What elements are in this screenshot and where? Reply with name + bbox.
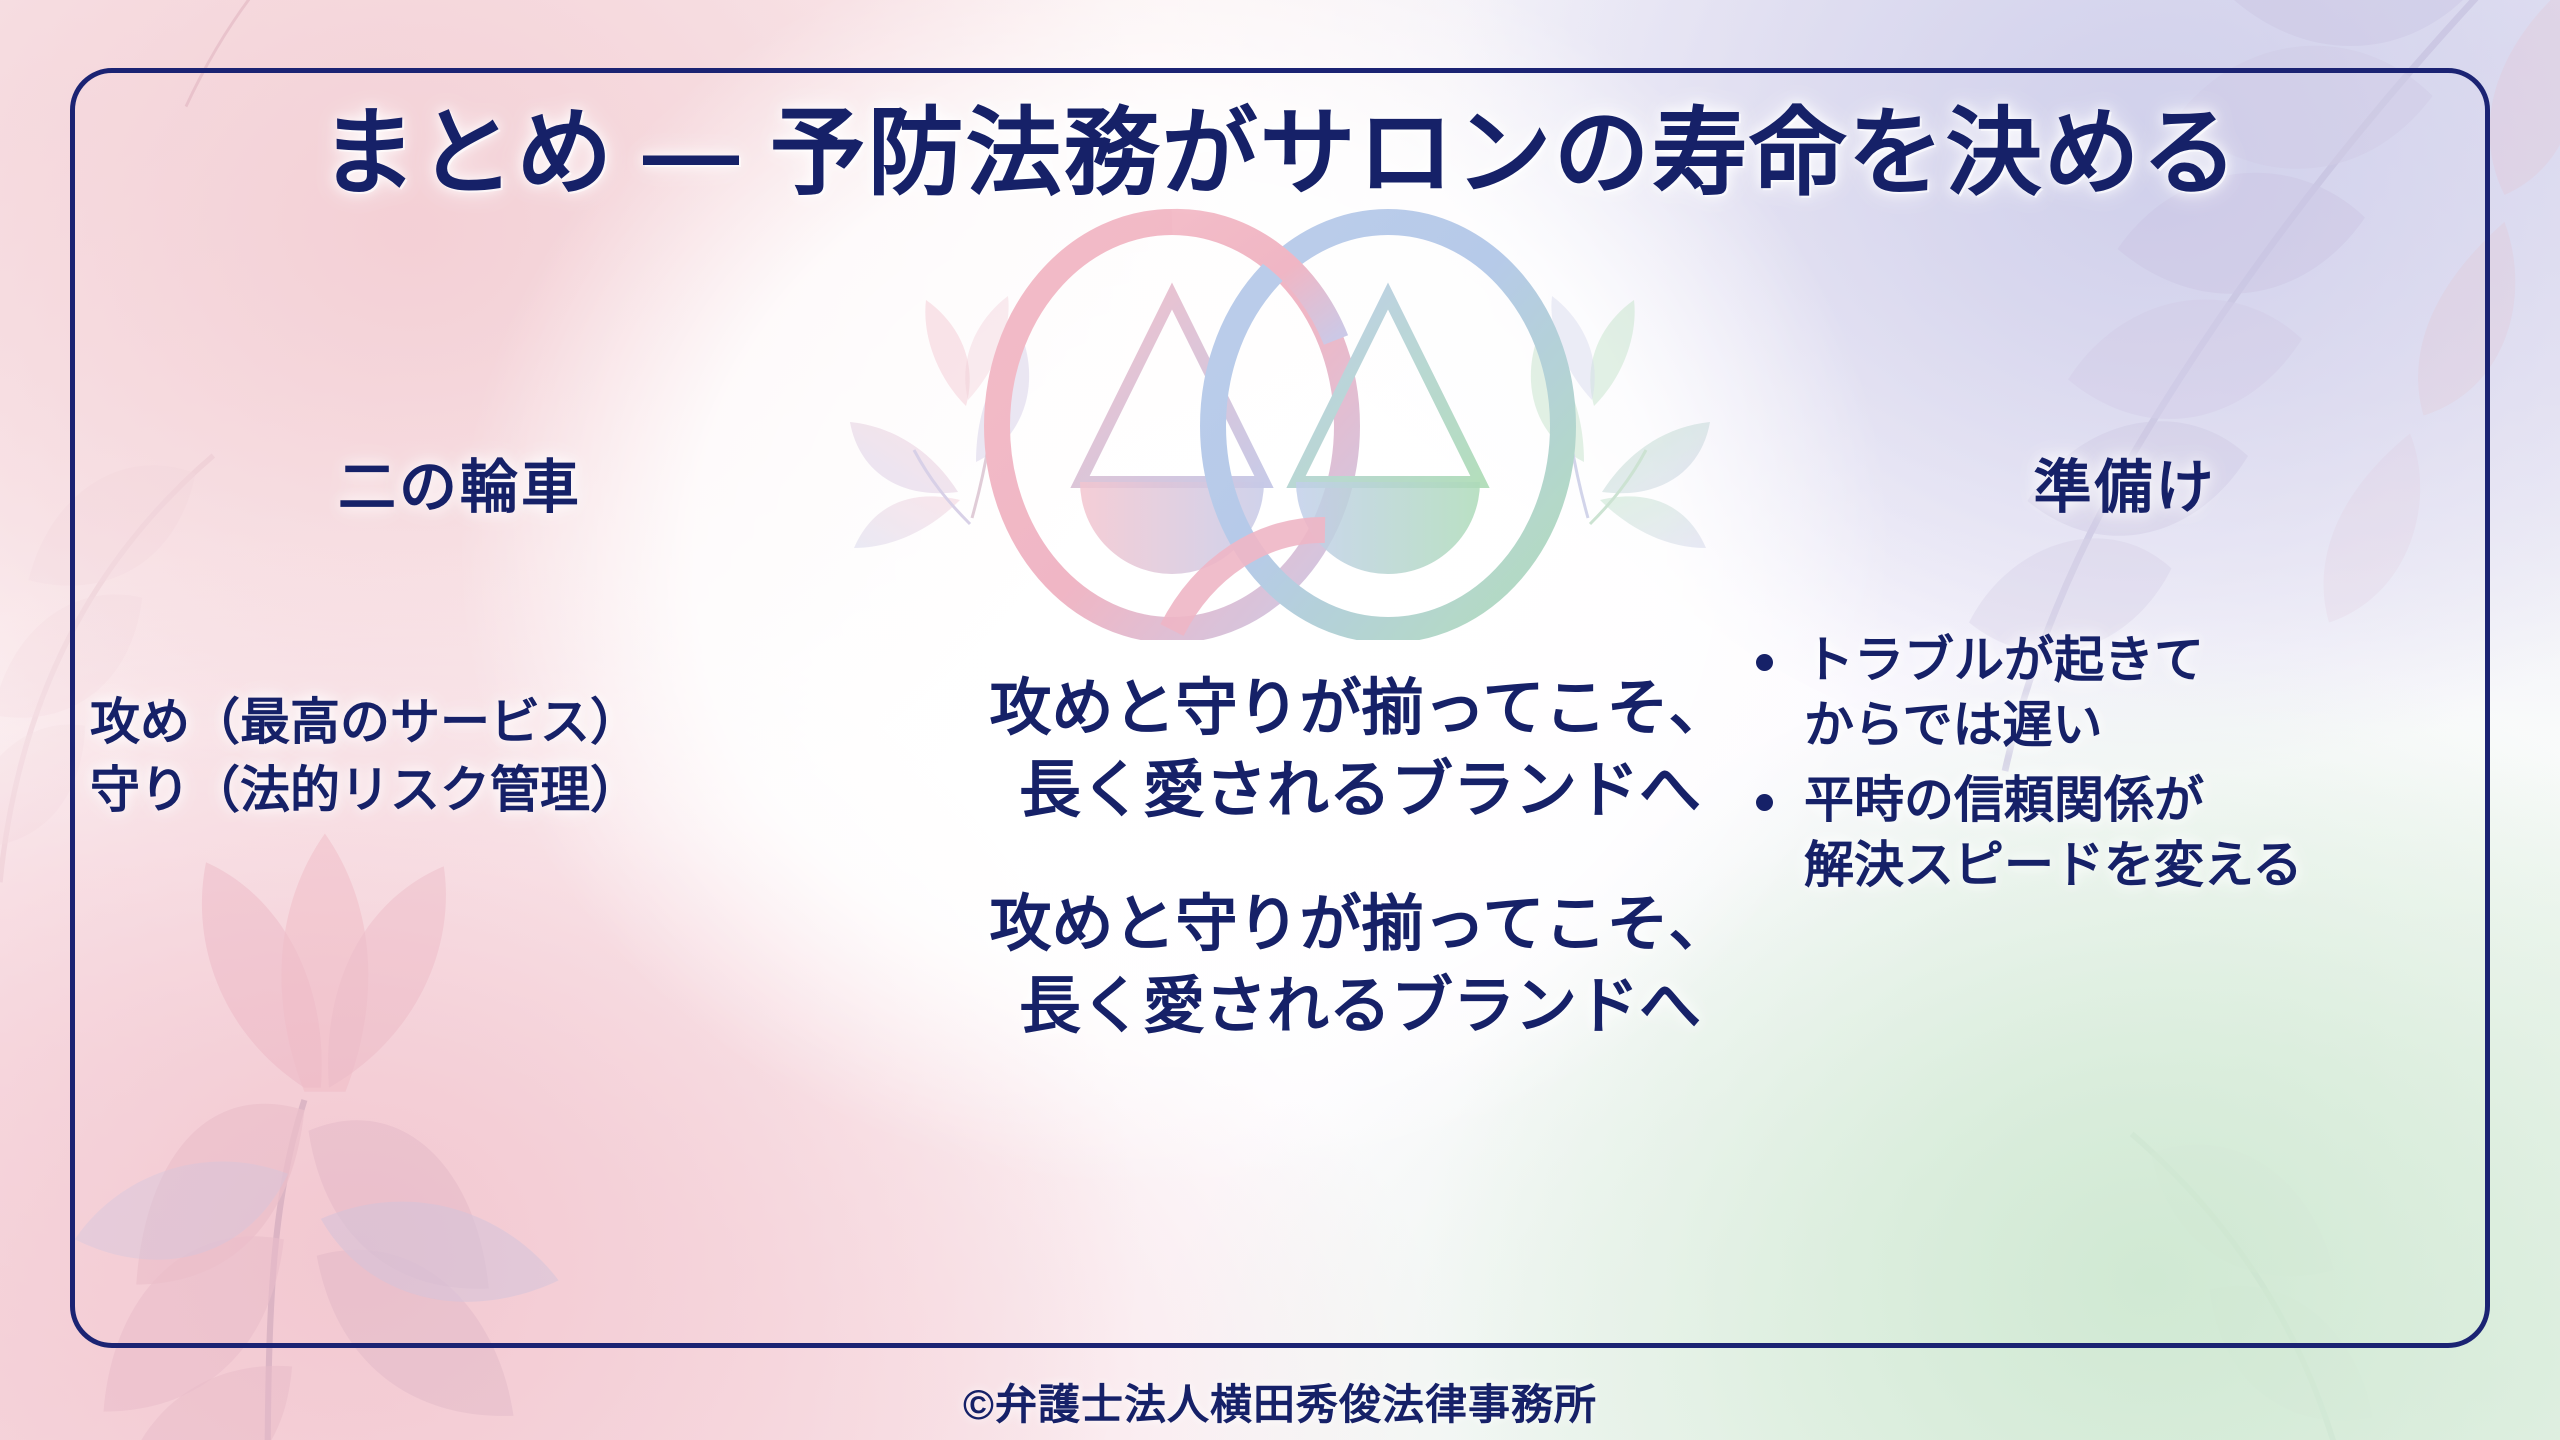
right-column: 準備け [1780,440,2470,524]
bullet-2-line-2: 解決スピードを変える [1804,833,2470,898]
center-statement-1-line-1: 攻めと守りが揃ってこそ、 [990,674,1731,743]
page-title: まとめ ― 予防法務がサロンの寿命を決める [70,104,2490,205]
right-column-heading: 準備け [1780,440,2470,524]
slide-root: まとめ ― 予防法務がサロンの寿命を決める 二の輪車 攻め（最高のサービス） 守… [0,0,2560,1440]
bullet-1-line-1: トラブルが起きて [1804,628,2470,693]
left-column-heading: 二の輪車 [110,440,810,524]
list-item: トラブルが起きて からでは遅い [1750,628,2470,758]
bullet-2-text: 平時の信頼関係が 解決スピードを変える [1804,768,2470,898]
left-column-lines: 攻め（最高のサービス） 守り（法的リスク管理） [90,688,830,824]
bullet-2-line-1: 平時の信頼関係が [1804,768,2470,833]
bullet-1-text: トラブルが起きて からでは遅い [1804,628,2470,758]
left-column: 二の輪車 [110,440,810,524]
right-column-bullet-list: トラブルが起きて からでは遅い 平時の信頼関係が 解決スピードを変える [1750,628,2470,908]
bullet-dot-icon [1756,654,1773,671]
left-line-offense: 攻め（最高のサービス） [90,688,830,756]
center-statement-1-line-2: 長く愛されるブランドへ [1019,756,1701,825]
bullet-1-line-2: からでは遅い [1804,693,2470,758]
center-statement-2-line-2: 長く愛されるブランドへ [1019,972,1701,1041]
copyright-footer: ©弁護士法人横田秀俊法律事務所 [0,1371,2560,1432]
center-statement-2: 攻めと守りが揃ってこそ、 長く愛されるブランドへ [770,884,1950,1048]
slide-content: まとめ ― 予防法務がサロンの寿命を決める 二の輪車 攻め（最高のサービス） 守… [70,68,2490,1348]
list-item: 平時の信頼関係が 解決スピードを変える [1750,768,2470,898]
bullet-dot-icon [1756,794,1773,811]
center-statement-2-line-1: 攻めと守りが揃ってこそ、 [990,890,1731,959]
left-line-defense: 守り（法的リスク管理） [90,756,830,824]
